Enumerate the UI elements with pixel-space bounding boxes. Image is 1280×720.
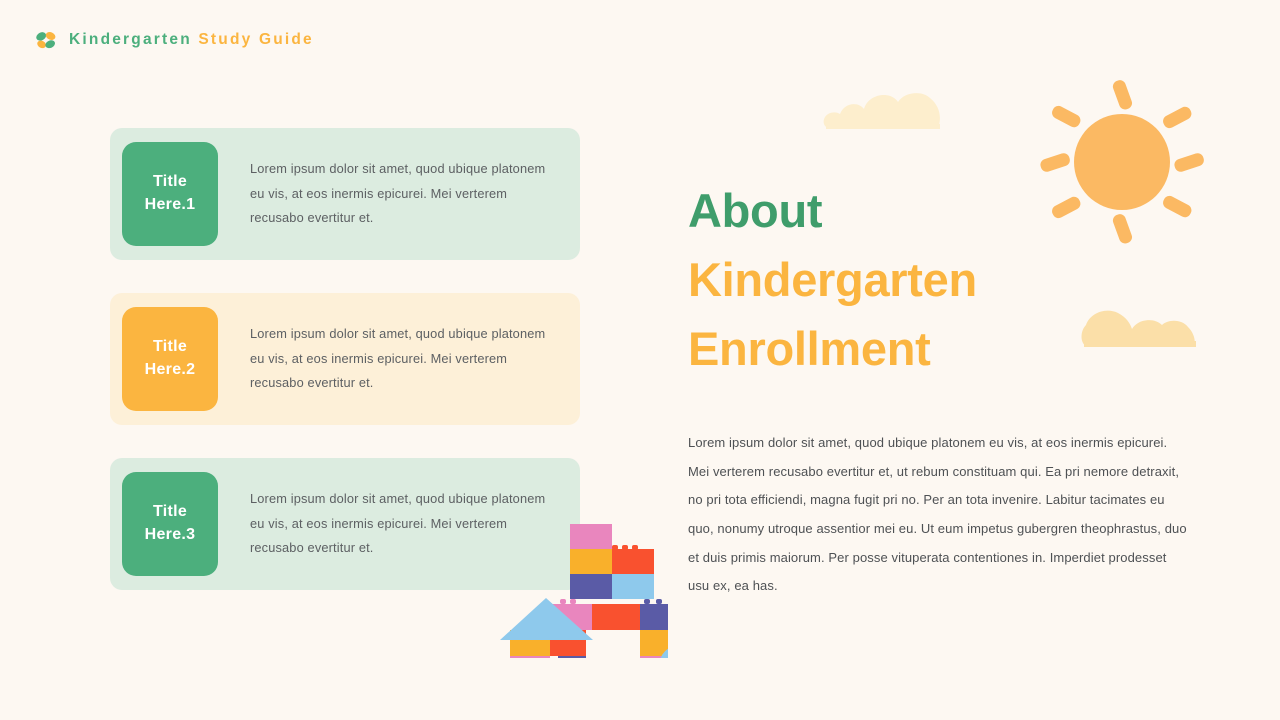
feature-card-1[interactable]: Title Here.1 Lorem ipsum dolor sit amet,…: [110, 128, 580, 260]
card-title-line2: Here.2: [145, 359, 196, 382]
brand-header: Kindergarten Study Guide: [34, 28, 314, 52]
card-title-tile-1: Title Here.1: [122, 142, 218, 246]
cloud-icon: [822, 88, 962, 135]
page-title: About Kindergarten Enrollment: [688, 176, 1218, 383]
body-paragraph: Lorem ipsum dolor sit amet, quod ubique …: [688, 429, 1188, 601]
brand-name-secondary: Study Guide: [198, 31, 313, 48]
pinwheel-flower-icon: [34, 28, 58, 52]
headline-line-3: Enrollment: [688, 314, 1218, 383]
headline-line-1: About: [688, 176, 1218, 245]
card-title-line1: Title: [153, 336, 187, 359]
brand-title: Kindergarten Study Guide: [69, 31, 314, 49]
card-title-tile-2: Title Here.2: [122, 307, 218, 411]
feature-card-list: Title Here.1 Lorem ipsum dolor sit amet,…: [110, 128, 580, 623]
card-title-line1: Title: [153, 501, 187, 524]
feature-card-2[interactable]: Title Here.2 Lorem ipsum dolor sit amet,…: [110, 293, 580, 425]
brand-name-primary: Kindergarten: [69, 31, 192, 48]
card-title-tile-3: Title Here.3: [122, 472, 218, 576]
card-body-2: Lorem ipsum dolor sit amet, quod ubique …: [250, 322, 562, 397]
main-content: About Kindergarten Enrollment Lorem ipsu…: [688, 176, 1218, 601]
card-title-line1: Title: [153, 171, 187, 194]
card-body-1: Lorem ipsum dolor sit amet, quod ubique …: [250, 157, 562, 232]
card-body-3: Lorem ipsum dolor sit amet, quod ubique …: [250, 487, 562, 562]
card-title-line2: Here.1: [145, 194, 196, 217]
headline-line-2: Kindergarten: [688, 245, 1218, 314]
card-title-line2: Here.3: [145, 524, 196, 547]
feature-card-3[interactable]: Title Here.3 Lorem ipsum dolor sit amet,…: [110, 458, 580, 590]
